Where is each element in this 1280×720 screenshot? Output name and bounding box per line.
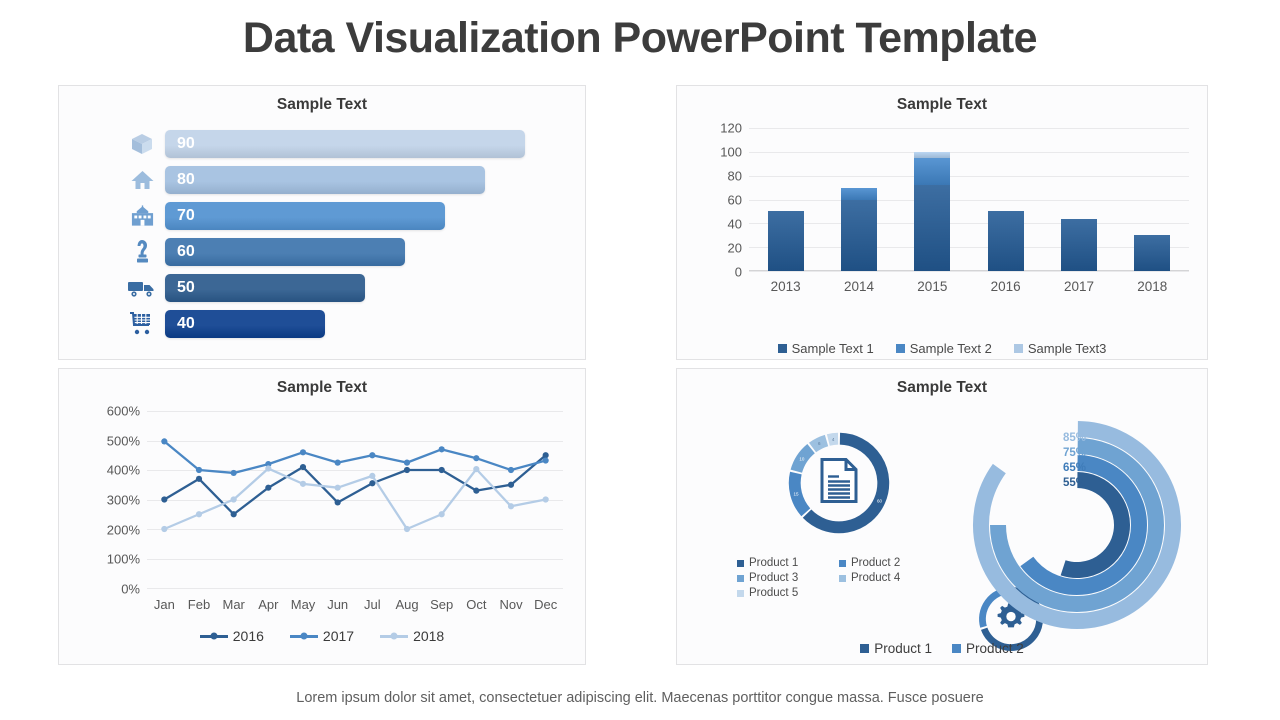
data-point — [404, 460, 410, 466]
x-axis-tick: May — [286, 597, 321, 612]
bar-fill: 70 — [165, 202, 445, 230]
x-axis-tick: 2016 — [969, 279, 1042, 294]
panel-donut-charts: Sample Text 60151064 — [676, 368, 1208, 665]
column-segment — [1134, 235, 1170, 271]
legend-label: Product 1 — [874, 641, 932, 656]
legend-label: Sample Text3 — [1028, 341, 1107, 356]
column-segment — [841, 200, 877, 272]
legend-swatch — [839, 560, 846, 567]
legend-marker — [380, 635, 408, 638]
house-icon — [119, 168, 165, 192]
data-point — [300, 464, 306, 470]
x-axis-tick: 2013 — [749, 279, 822, 294]
shopping-cart-icon — [119, 312, 165, 336]
data-point — [231, 496, 237, 502]
horizontal-bar-row: 90 — [119, 126, 585, 162]
x-axis-tick: Dec — [528, 597, 563, 612]
y-axis-tick: 60 — [728, 193, 742, 208]
data-point — [508, 503, 514, 509]
bar-fill: 40 — [165, 310, 325, 338]
data-point — [196, 476, 202, 482]
donut-area: 60151064 — [677, 397, 1207, 647]
slide-root: Data Visualization PowerPoint Template S… — [0, 0, 1280, 720]
legend-swatch — [896, 344, 905, 353]
x-axis-tick: Jul — [355, 597, 390, 612]
column-slot: 2013 — [749, 128, 822, 271]
legend-item: Product 2 — [952, 641, 1024, 656]
legend-swatch — [737, 575, 744, 582]
data-point — [300, 481, 306, 487]
legend-marker — [290, 635, 318, 638]
page-title: Data Visualization PowerPoint Template — [0, 14, 1280, 63]
bar-track: 50 — [165, 274, 585, 302]
column-stack — [768, 128, 804, 271]
x-axis-tick: 2017 — [1042, 279, 1115, 294]
chess-knight-icon — [119, 239, 165, 265]
bottom-product-legend: Product 1Product 2 — [677, 641, 1207, 656]
bar-value-label: 80 — [177, 171, 195, 189]
bar-value-label: 90 — [177, 135, 195, 153]
y-axis-tick: 600% — [107, 404, 140, 419]
legend-swatch — [1014, 344, 1023, 353]
x-axis-tick: Jun — [320, 597, 355, 612]
legend-swatch — [839, 575, 846, 582]
x-axis-tick: Oct — [459, 597, 494, 612]
y-axis-tick: 300% — [107, 493, 140, 508]
legend-label: 2017 — [323, 628, 354, 644]
legend-item: Sample Text 1 — [778, 341, 874, 356]
data-point — [196, 511, 202, 517]
legend-label: 2016 — [233, 628, 264, 644]
school-icon — [119, 205, 165, 227]
horizontal-bar-row: 80 — [119, 162, 585, 198]
legend-swatch — [737, 560, 744, 567]
legend-label: Product 3 — [749, 572, 798, 584]
data-point — [404, 467, 410, 473]
data-point — [508, 467, 514, 473]
x-axis-tick: Mar — [216, 597, 251, 612]
column-slot: 2017 — [1042, 128, 1115, 271]
legend-label: Product 5 — [749, 587, 798, 599]
legend-item: Product 1 — [737, 557, 829, 569]
data-point — [473, 455, 479, 461]
panel-horizontal-bars: Sample Text 908070605040 — [58, 85, 586, 360]
legend-item: Product 2 — [839, 557, 931, 569]
column-slot: 2016 — [969, 128, 1042, 271]
horizontal-bar-list: 908070605040 — [59, 126, 585, 342]
x-axis-tick: Apr — [251, 597, 286, 612]
bar-fill: 60 — [165, 238, 405, 266]
data-point — [543, 496, 549, 502]
y-axis-tick: 80 — [728, 168, 742, 183]
y-axis-tick: 400% — [107, 463, 140, 478]
panel-title-donuts: Sample Text — [677, 379, 1207, 397]
legend-item: Product 3 — [737, 572, 829, 584]
legend-label: Sample Text 1 — [792, 341, 874, 356]
bar-value-label: 70 — [177, 207, 195, 225]
legend-item: Product 5 — [737, 587, 829, 599]
column-stack — [988, 128, 1024, 271]
radial-progress-arc — [1063, 480, 1122, 570]
panel-line-chart: Sample Text 0%100%200%300%400%500%600% J… — [58, 368, 586, 665]
legend-item: 2018 — [380, 628, 444, 644]
data-point — [231, 470, 237, 476]
column-segment — [768, 211, 804, 271]
data-point — [439, 511, 445, 517]
column-stack — [1061, 128, 1097, 271]
horizontal-bar-row: 60 — [119, 234, 585, 270]
column-chart: 020406080100120201320142015201620172018 — [677, 122, 1207, 307]
panel-title-columns: Sample Text — [677, 96, 1207, 114]
y-axis-tick: 0 — [735, 265, 742, 280]
y-axis-tick: 100% — [107, 552, 140, 567]
donut-value-label: 15 — [794, 492, 800, 497]
y-axis-tick: 120 — [720, 121, 742, 136]
bar-track: 40 — [165, 310, 585, 338]
column-segment — [841, 188, 877, 200]
percentage-label: 85% — [1063, 431, 1086, 446]
legend-label: Product 1 — [749, 557, 798, 569]
y-axis-tick: 500% — [107, 433, 140, 448]
panel-title-lines: Sample Text — [59, 379, 585, 397]
legend-item: Sample Text 2 — [896, 341, 992, 356]
legend-label: 2018 — [413, 628, 444, 644]
product-donut-chart: 60151064 — [785, 429, 893, 537]
truck-icon — [119, 278, 165, 298]
legend-label: Product 2 — [966, 641, 1024, 656]
line-series-svg — [147, 411, 563, 588]
data-point — [161, 526, 167, 532]
legend-item: Sample Text3 — [1014, 341, 1107, 356]
data-point — [369, 452, 375, 458]
data-point — [231, 511, 237, 517]
data-point — [196, 467, 202, 473]
x-axis-tick: 2015 — [896, 279, 969, 294]
data-point — [439, 446, 445, 452]
data-point — [473, 488, 479, 494]
y-axis-tick: 100 — [720, 144, 742, 159]
bar-fill: 90 — [165, 130, 525, 158]
box-icon — [119, 132, 165, 156]
data-point — [473, 466, 479, 472]
document-icon — [819, 458, 859, 509]
percentage-label: 65% — [1063, 461, 1086, 476]
data-point — [508, 482, 514, 488]
column-stack — [1134, 128, 1170, 271]
panel-column-chart: Sample Text 0204060801001202013201420152… — [676, 85, 1208, 360]
footer-text: Lorem ipsum dolor sit amet, consectetuer… — [0, 690, 1280, 706]
column-slot: 2018 — [1116, 128, 1189, 271]
line-chart-legend: 201620172018 — [59, 628, 585, 644]
legend-swatch — [952, 644, 961, 653]
column-segment — [914, 185, 950, 271]
bar-value-label: 50 — [177, 279, 195, 297]
horizontal-bar-row: 70 — [119, 198, 585, 234]
line-x-axis-ticks: JanFebMarAprMayJunJulAugSepOctNovDec — [147, 597, 563, 612]
data-point — [335, 499, 341, 505]
bar-track: 70 — [165, 202, 585, 230]
data-point — [543, 452, 549, 458]
x-axis-tick: 2018 — [1116, 279, 1189, 294]
bar-value-label: 40 — [177, 315, 195, 333]
data-point — [439, 467, 445, 473]
data-point — [335, 485, 341, 491]
data-point — [300, 449, 306, 455]
data-point — [161, 496, 167, 502]
data-point — [265, 485, 271, 491]
x-axis-tick: Jan — [147, 597, 182, 612]
bar-track: 90 — [165, 130, 585, 158]
product-legend: Product 1Product 2Product 3Product 4Prod… — [737, 557, 931, 599]
column-segment — [988, 211, 1024, 271]
donut-value-label: 10 — [799, 457, 805, 462]
donut-value-label: 60 — [877, 499, 883, 504]
x-axis-tick: Nov — [494, 597, 529, 612]
column-slot: 2014 — [822, 128, 895, 271]
y-axis-tick: 0% — [121, 582, 140, 597]
line-series — [164, 469, 545, 529]
column-plot-area: 020406080100120201320142015201620172018 — [749, 128, 1189, 271]
column-group: 201320142015201620172018 — [749, 128, 1189, 271]
percentage-label: 55% — [1063, 476, 1086, 491]
legend-swatch — [778, 344, 787, 353]
column-segment — [914, 158, 950, 185]
legend-swatch — [737, 590, 744, 597]
bar-fill: 80 — [165, 166, 485, 194]
line-chart: 0%100%200%300%400%500%600% JanFebMarAprM… — [59, 403, 585, 618]
data-point — [265, 465, 271, 471]
bar-value-label: 60 — [177, 243, 195, 261]
data-point — [404, 526, 410, 532]
legend-item: 2017 — [290, 628, 354, 644]
bar-track: 60 — [165, 238, 585, 266]
legend-label: Product 2 — [851, 557, 900, 569]
percentage-labels: 85%75%65%55% — [1063, 431, 1086, 491]
legend-marker — [200, 635, 228, 638]
y-axis-tick: 20 — [728, 240, 742, 255]
bar-fill: 50 — [165, 274, 365, 302]
horizontal-bar-row: 50 — [119, 270, 585, 306]
panel-title-bars: Sample Text — [59, 96, 585, 114]
x-axis-tick: Feb — [182, 597, 217, 612]
legend-swatch — [860, 644, 869, 653]
column-slot: 2015 — [896, 128, 969, 271]
legend-label: Product 4 — [851, 572, 900, 584]
legend-item: Product 4 — [839, 572, 931, 584]
percentage-label: 75% — [1063, 446, 1086, 461]
gridline: 0% — [147, 588, 563, 589]
x-axis-tick: Sep — [424, 597, 459, 612]
gridline: 0 — [749, 271, 1189, 272]
data-point — [335, 460, 341, 466]
x-axis-tick: Aug — [390, 597, 425, 612]
bar-track: 80 — [165, 166, 585, 194]
column-chart-legend: Sample Text 1Sample Text 2Sample Text3 — [677, 341, 1207, 356]
data-point — [161, 438, 167, 444]
x-axis-tick: 2014 — [822, 279, 895, 294]
column-stack — [914, 128, 950, 271]
legend-item: Product 1 — [860, 641, 932, 656]
column-segment — [1061, 219, 1097, 271]
data-point — [543, 457, 549, 463]
y-axis-tick: 40 — [728, 216, 742, 231]
column-stack — [841, 128, 877, 271]
horizontal-bar-row: 40 — [119, 306, 585, 342]
line-plot-area: 0%100%200%300%400%500%600% — [147, 411, 563, 588]
data-point — [369, 473, 375, 479]
line-series — [164, 441, 545, 473]
legend-label: Sample Text 2 — [910, 341, 992, 356]
y-axis-tick: 200% — [107, 522, 140, 537]
legend-item: 2016 — [200, 628, 264, 644]
